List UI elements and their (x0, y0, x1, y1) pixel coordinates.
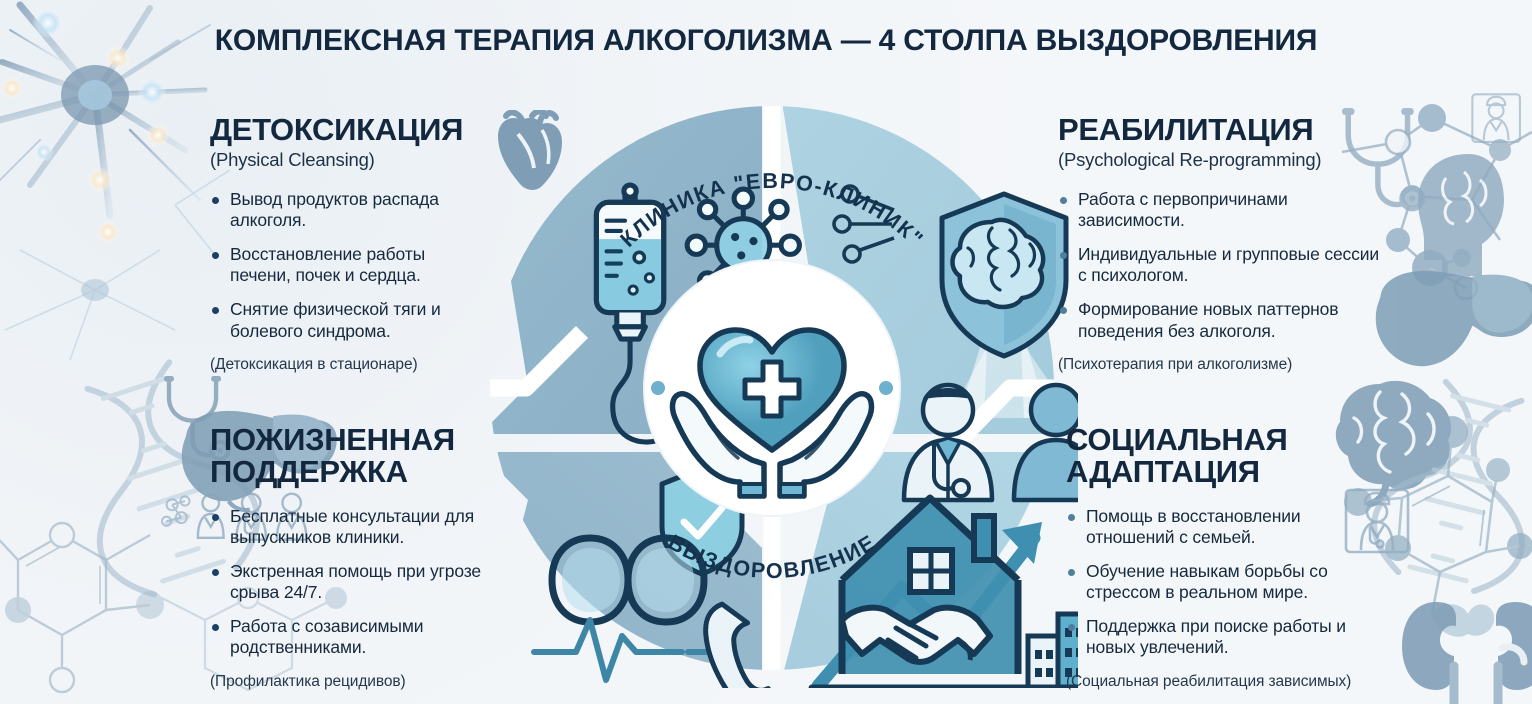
pillar-detox: ДЕТОКСИКАЦИЯ (Physical Cleansing) Вывод … (210, 114, 488, 390)
list-item: Помощь в восстановлении отношений с семь… (1066, 506, 1386, 549)
emblem-dot-right (879, 381, 893, 395)
list-item: Снятие физической тяги и болевого синдро… (210, 299, 488, 342)
pillar-social-list: Помощь в восстановлении отношений с семь… (1066, 506, 1386, 659)
pillar-support: ПОЖИЗНЕННАЯ ПОДДЕРЖКА Бесплатные консуль… (210, 424, 522, 704)
list-item: Работа с созависимыми родственниками. (210, 616, 522, 659)
list-item: Экстренная помощь при угрозе срыва 24/7. (210, 561, 522, 604)
list-item: Обучение навыкам борьбы со стрессом в ре… (1066, 561, 1386, 604)
pillar-detox-title: ДЕТОКСИКАЦИЯ (210, 114, 488, 146)
dna-helix-icon (1363, 373, 1532, 599)
pillar-detox-list: Вывод продуктов распада алкоголя. Восста… (210, 189, 488, 342)
anatomical-heart-icon (492, 110, 568, 196)
list-item: Индивидуальные и групповые сессии с псих… (1058, 244, 1388, 287)
list-item: Работа с первопричинами зависимости. (1058, 189, 1388, 232)
page-title: КОМПЛЕКСНАЯ ТЕРАПИЯ АЛКОГОЛИЗМА — 4 СТОЛ… (0, 24, 1532, 58)
pillar-social: СОЦИАЛЬНАЯ АДАПТАЦИЯ Помощь в восстановл… (1066, 424, 1386, 704)
infographic-canvas: КОМПЛЕКСНАЯ ТЕРАПИЯ АЛКОГОЛИЗМА — 4 СТОЛ… (0, 0, 1532, 704)
list-item: Вывод продуктов распада алкоголя. (210, 189, 488, 232)
liver-icon (1376, 271, 1532, 366)
list-item: Поддержка при поиске работы и новых увле… (1066, 616, 1386, 659)
pillar-social-title: СОЦИАЛЬНАЯ АДАПТАЦИЯ (1066, 424, 1386, 488)
pillar-support-note: (Профилактика рецидивов) (210, 673, 522, 691)
pillar-support-list: Бесплатные консультации для выпускников … (210, 506, 522, 659)
pillar-support-title: ПОЖИЗНЕННАЯ ПОДДЕРЖКА (210, 424, 522, 488)
pillar-rehab-subtitle: (Psychological Re-programming) (1058, 149, 1388, 171)
pillar-detox-subtitle: (Physical Cleansing) (210, 149, 488, 171)
pillar-detox-note: (Детоксикация в стационаре) (210, 356, 488, 374)
head-brain-icon (1418, 154, 1504, 276)
pillar-social-note: (Социальная реабилитация зависимых) (1066, 673, 1386, 691)
pillar-rehab-list: Работа с первопричинами зависимости. Инд… (1058, 189, 1388, 342)
neuron-network-icon (0, 5, 230, 360)
list-item: Бесплатные консультации для выпускников … (210, 506, 522, 549)
pillar-rehab: РЕАБИЛИТАЦИЯ (Psychological Re-programmi… (1058, 114, 1388, 390)
kidneys-icon (1402, 602, 1532, 704)
emblem-dot-left (651, 381, 665, 395)
list-item: Формирование новых паттернов поведения б… (1058, 299, 1388, 342)
molecule-icon (0, 523, 164, 692)
pillar-rehab-note: (Психотерапия при алкоголизме) (1058, 356, 1388, 374)
pillar-rehab-title: РЕАБИЛИТАЦИЯ (1058, 114, 1388, 146)
list-item: Восстановление работы печени, почек и се… (210, 244, 488, 287)
doctor-icons (1472, 94, 1520, 142)
